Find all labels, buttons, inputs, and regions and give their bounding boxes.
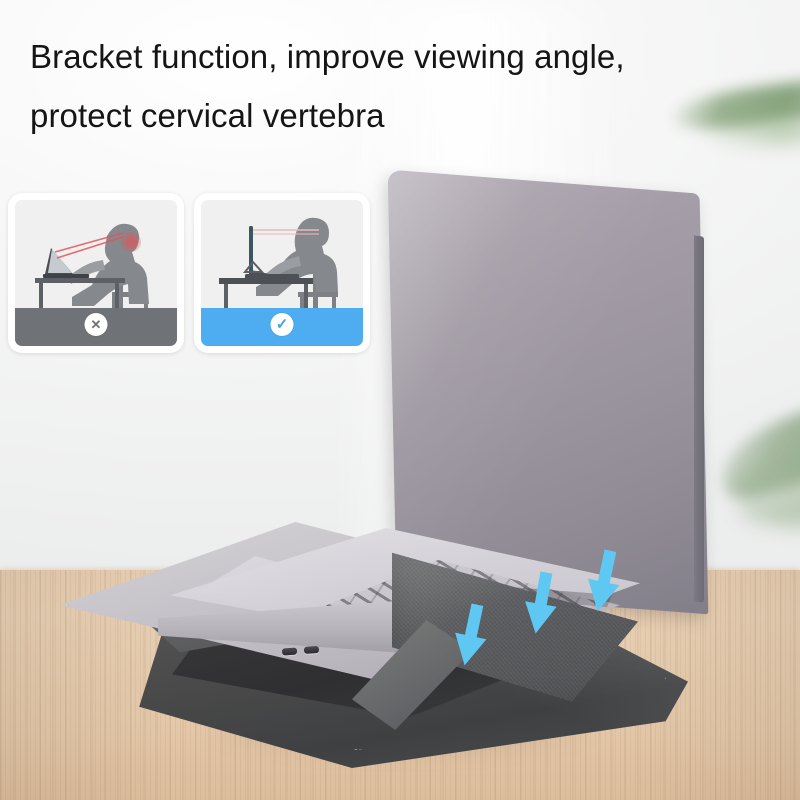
port-left <box>282 647 297 655</box>
product-photo <box>0 0 800 800</box>
product-marketing-image: Bracket function, improve viewing angle,… <box>0 0 800 800</box>
laptop-lid-right-edge <box>694 236 704 603</box>
port-right <box>304 646 319 654</box>
